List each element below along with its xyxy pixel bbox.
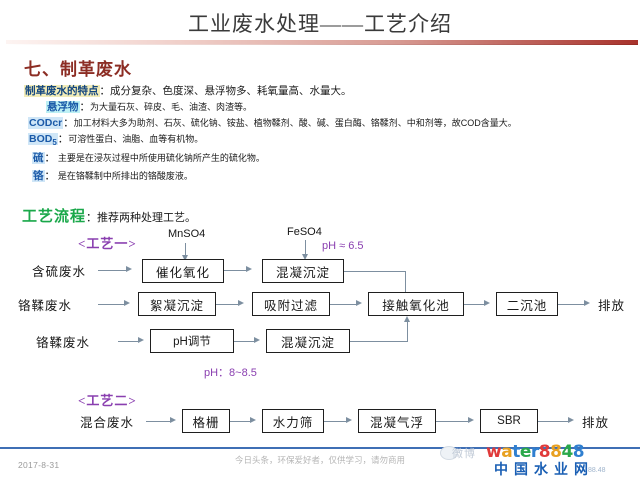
characteristics-colon: ： [100, 85, 111, 97]
node-coagulation-sedimentation-bottom: 混凝沉淀 [266, 329, 350, 353]
source-chrome-tanning-wastewater-1: 铬鞣废水 [18, 295, 72, 313]
char-item-colon: ： [63, 117, 74, 129]
reagent-mnso4-label: MnSO4 [168, 228, 205, 240]
title-divider-thin [6, 44, 638, 45]
arrow-line [436, 421, 470, 422]
scheme-1-label: <工艺一> [78, 233, 137, 252]
arrow-line [230, 421, 252, 422]
node-secondary-sedimentation-tank: 二沉池 [496, 292, 558, 316]
arrowhead [254, 337, 260, 343]
arrow-line [98, 304, 126, 305]
ph-range-note: pH：8~8.5 [204, 364, 257, 380]
arrowhead [346, 417, 352, 423]
node-adsorption-filtration: 吸附过滤 [252, 292, 330, 316]
process-heading: 工艺流程：推荐两种处理工艺。 [22, 205, 196, 226]
process-heading-text: ：推荐两种处理工艺。 [86, 212, 196, 224]
char-item-label-sub: 5 [52, 138, 56, 147]
node-hydraulic-sieve: 水力筛 [262, 409, 324, 433]
char-item-label-main: BOD [29, 133, 52, 145]
arrow-line [330, 304, 358, 305]
page-title: 工业废水处理——工艺介绍 [0, 8, 640, 38]
arrow-line [464, 304, 486, 305]
char-item-colon: ： [45, 170, 56, 182]
arrowhead [138, 337, 144, 343]
node-coagulation-flotation: 混凝气浮 [358, 409, 436, 433]
arrow-line [224, 270, 248, 271]
arrowhead [568, 417, 574, 423]
arrow-line [146, 421, 172, 422]
char-item-label: BOD5 [28, 133, 58, 145]
connector-arrowhead-up [404, 316, 410, 322]
arrow-line [558, 304, 586, 305]
ph-approx-note: pH ≈ 6.5 [322, 240, 364, 252]
arrow-line [118, 341, 140, 342]
arrow-line [216, 304, 240, 305]
characteristics-text: 成分复杂、色度深、悬浮物多、耗氧量高、水量大。 [110, 85, 352, 97]
arrowhead [124, 300, 130, 306]
arrowhead [238, 300, 244, 306]
node-contact-oxidation-tank: 接触氧化池 [368, 292, 464, 316]
char-item-codcr: CODcr：加工材料大多为助剂、石灰、硫化钠、铵盐、植物鞣剂、酸、碱、蛋白酶、铬… [28, 117, 517, 130]
char-item-text: 为大量石灰、碎皮、毛、油渣、肉渣等。 [90, 102, 252, 112]
char-item-colon: ： [80, 101, 91, 113]
characteristics-label: 制革废水的特点 [24, 85, 100, 97]
footer-note: 今日头条，环保爱好者，仅供学习，请勿商用 [225, 455, 415, 466]
scheme-2-label: <工艺二> [78, 390, 137, 409]
char-item-label: CODcr [28, 117, 63, 129]
outlet-discharge-1: 排放 [598, 295, 625, 313]
arrowhead [250, 417, 256, 423]
char-item-label: 悬浮物 [46, 101, 80, 113]
arrowhead [584, 300, 590, 306]
char-item-text: 可溶性蛋白、油脂、血等有机物。 [68, 134, 203, 144]
node-sbr: SBR [480, 409, 538, 433]
char-item-sulfur: 硫： 主要是在浸灰过程中所使用硫化钠所产生的硫化物。 [32, 152, 265, 165]
char-item-colon: ： [45, 152, 56, 164]
watermark-sub-label: 88.48 [588, 467, 606, 474]
arrow-line [234, 341, 256, 342]
arrowhead [126, 266, 132, 272]
arrow-line [538, 421, 570, 422]
arrow-line [324, 421, 348, 422]
source-chrome-tanning-wastewater-2: 铬鞣废水 [36, 332, 90, 350]
watermark-weibo-label: 微博 [452, 445, 476, 461]
connector-line-h [344, 271, 406, 272]
arrowhead [246, 266, 252, 272]
char-item-colon: ： [58, 133, 69, 145]
source-mixed-wastewater: 混合废水 [80, 412, 134, 430]
source-sulfur-wastewater: 含硫废水 [32, 261, 86, 279]
watermark: 微博 water8848 中国水业网 88.48 [440, 442, 636, 478]
char-item-label: 硫 [32, 152, 45, 164]
node-coagulation-sedimentation-top: 混凝沉淀 [262, 259, 344, 283]
char-item-chromium: 铬： 是在铬鞣制中所排出的铬酸废液。 [32, 170, 193, 183]
arrowhead [356, 300, 362, 306]
footer-date: 2017-8-31 [18, 460, 59, 470]
arrow-line [98, 270, 128, 271]
connector-line-v [407, 320, 408, 342]
arrowhead [468, 417, 474, 423]
char-item-suspended: 悬浮物：为大量石灰、碎皮、毛、油渣、肉渣等。 [46, 101, 252, 114]
node-ph-adjustment: pH调节 [150, 329, 234, 353]
node-catalytic-oxidation: 催化氧化 [142, 259, 224, 283]
char-item-text: 主要是在浸灰过程中所使用硫化钠所产生的硫化物。 [58, 153, 265, 163]
node-flocculation-sedimentation: 絮凝沉淀 [138, 292, 216, 316]
slide-canvas: 工业废水处理——工艺介绍 七、制革废水 制革废水的特点：成分复杂、色度深、悬浮物… [0, 0, 640, 480]
reagent-feso4-label: FeSO4 [287, 226, 322, 238]
characteristics-headline: 制革废水的特点：成分复杂、色度深、悬浮物多、耗氧量高、水量大。 [24, 85, 352, 98]
process-heading-label: 工艺流程 [22, 209, 86, 225]
char-item-label: 铬 [32, 170, 45, 182]
node-bar-screen: 格栅 [182, 409, 230, 433]
watermark-cn-label: 中国水业网 [494, 459, 594, 479]
char-item-text: 加工材料大多为助剂、石灰、硫化钠、铵盐、植物鞣剂、酸、碱、蛋白酶、铬鞣剂、中和剂… [74, 118, 517, 128]
char-item-bod5: BOD5：可溶性蛋白、油脂、血等有机物。 [28, 133, 203, 149]
char-item-text: 是在铬鞣制中所排出的铬酸废液。 [58, 171, 193, 181]
arrowhead [170, 417, 176, 423]
section-heading: 七、制革废水 [24, 55, 132, 80]
outlet-discharge-2: 排放 [582, 412, 609, 430]
connector-line-h [350, 341, 408, 342]
arrowhead [484, 300, 490, 306]
